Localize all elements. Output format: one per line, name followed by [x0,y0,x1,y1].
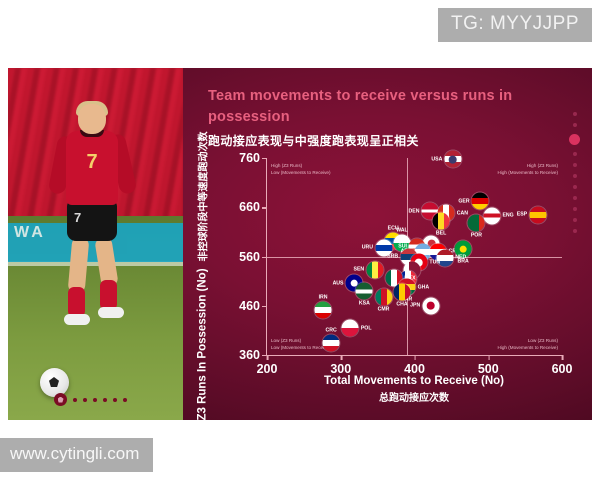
scatter-point[interactable]: CRC [323,334,340,351]
scatter-point[interactable]: POR [468,215,485,232]
x-axis-tick: 300 [330,362,351,376]
player-figure [56,104,134,329]
player-photo: WA [8,68,183,420]
point-label: IRN [319,295,328,301]
point-label: URU [362,245,373,251]
scatter-point[interactable]: CHA [393,284,410,301]
scatter-point[interactable]: USA [444,151,461,168]
point-label: CHA [396,302,407,308]
flag-icon-eng [483,207,500,224]
point-label: JPN [410,303,420,309]
advert-board-text: WA [14,224,46,242]
flag-icon-cha [393,284,410,301]
x-axis-tick: 500 [478,362,499,376]
plot-area: 360460560660760200300400500600High (Z3 R… [266,158,562,356]
site-watermark: www.cytingli.com [0,438,153,472]
ball-bullet-icon [54,393,67,406]
point-label: TUN [429,259,440,265]
title-block: Team movements to receive versus runs in… [208,86,538,149]
scatter-point[interactable]: ESP [529,206,546,223]
point-label: POL [361,325,372,331]
slide-canvas: WA Team movements to receive versus runs… [8,68,592,420]
flag-icon-jpn [422,297,439,314]
point-label: KSA [359,301,370,307]
title-chinese: 跑动接应表现与中强度跑表现呈正相关 [208,132,538,149]
flag-icon-por [468,215,485,232]
quadrant-note: High (Z3 Runs)High (Movements to Receive… [497,162,558,176]
point-label: CRC [326,327,337,333]
point-label: DEN [409,208,420,214]
y-axis-label-cn: 非控球阶段中等速度跑动次数 [195,131,210,261]
flag-icon-bel [433,213,450,230]
y-axis-label-en: Z3 Runs In Possession (No) [196,268,208,420]
y-axis-tick: 360 [239,348,260,362]
point-label: WAL [396,227,408,233]
point-label: GHA [418,284,430,290]
flag-icon-sen [366,261,383,278]
point-label: GER [458,198,469,204]
x-axis-tick: 400 [404,362,425,376]
flag-icon-pol [342,320,359,337]
point-label: USA [431,156,442,162]
scatter-point[interactable]: KSA [356,283,373,300]
y-axis-label: Z3 Runs In Possession (No) 非控球阶段中等速度跑动次数 [195,131,210,420]
scatter-point[interactable]: IRN [315,302,332,319]
y-axis-tick: 660 [239,200,260,214]
slide-progress-dots[interactable] [54,393,127,406]
quadrant-note: Low (Z3 Runs)Low (Movements to Receive) [271,337,331,351]
point-label: CMR [378,306,390,312]
x-axis-label-en: Total Movements to Receive (No) [266,375,562,387]
quadrant-note: High (Z3 Runs)Low (Movements to Receive) [271,162,331,176]
y-axis-tick: 460 [239,299,260,313]
scatter-point[interactable]: CMR [375,288,392,305]
y-axis-tick: 560 [239,250,260,264]
point-label: POR [471,233,482,239]
scatter-point[interactable]: SEN [366,261,383,278]
point-label: ESP [517,212,527,218]
scatter-chart: Z3 Runs In Possession (No) 非控球阶段中等速度跑动次数… [204,150,576,402]
title-english: Team movements to receive versus runs in… [208,86,538,127]
point-label: ENG [502,213,513,219]
scatter-point[interactable]: JPN [422,297,439,314]
flag-icon-irn [315,302,332,319]
tg-badge: TG: MYYJJPP [438,8,592,42]
flag-icon-cmr [375,288,392,305]
flag-icon-usa [444,151,461,168]
scatter-point[interactable]: ENG [483,207,500,224]
y-axis-tick: 760 [239,151,260,165]
x-axis-label: Total Movements to Receive (No) 总跑动接应次数 [266,375,562,404]
flag-icon-ksa [356,283,373,300]
flag-icon-esp [529,206,546,223]
point-label: SRB [387,254,398,260]
point-label: NED [455,255,466,261]
x-axis-tick: 200 [257,362,278,376]
quadrant-note: Low (Z3 Runs)High (Movements to Receive) [497,337,558,351]
x-axis-label-cn: 总跑动接应次数 [266,389,562,404]
point-label: CAN [457,210,468,216]
scatter-point[interactable]: BEL [433,213,450,230]
point-label: SEN [354,267,365,273]
flag-icon-crc [323,334,340,351]
x-axis-tick: 600 [552,362,573,376]
scatter-point[interactable]: POL [342,320,359,337]
point-label: AUS [333,280,344,286]
